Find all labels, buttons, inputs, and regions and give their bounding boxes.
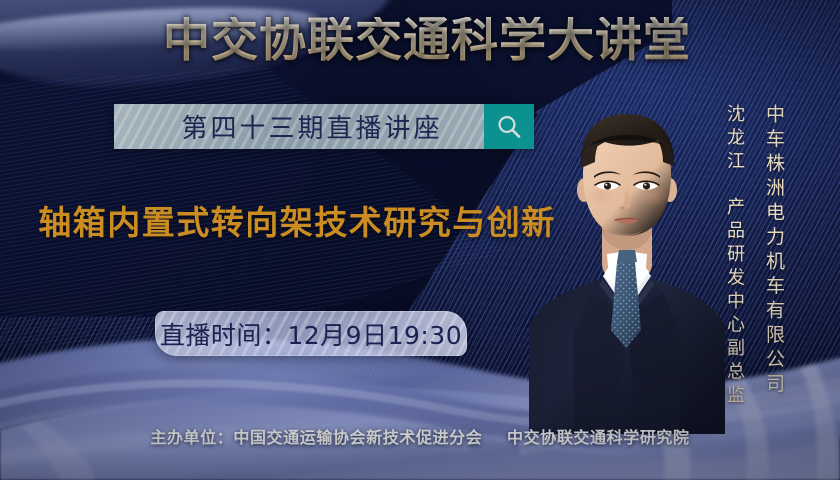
live-time-badge: 直播时间：12月9日19:30 [155, 311, 467, 356]
search-icon-glyph [495, 113, 523, 141]
live-time-text: 直播时间：12月9日19:30 [160, 316, 462, 352]
search-icon[interactable] [484, 104, 534, 149]
session-banner-label: 第四十三期直播讲座 [114, 108, 484, 145]
session-banner: 第四十三期直播讲座 [114, 104, 534, 149]
poster-canvas: 中交协联交通科学大讲堂 中交协联交通科学大讲堂 第四十三期直播讲座 轴箱内置式转… [0, 0, 840, 480]
vignette-overlay [0, 0, 840, 480]
